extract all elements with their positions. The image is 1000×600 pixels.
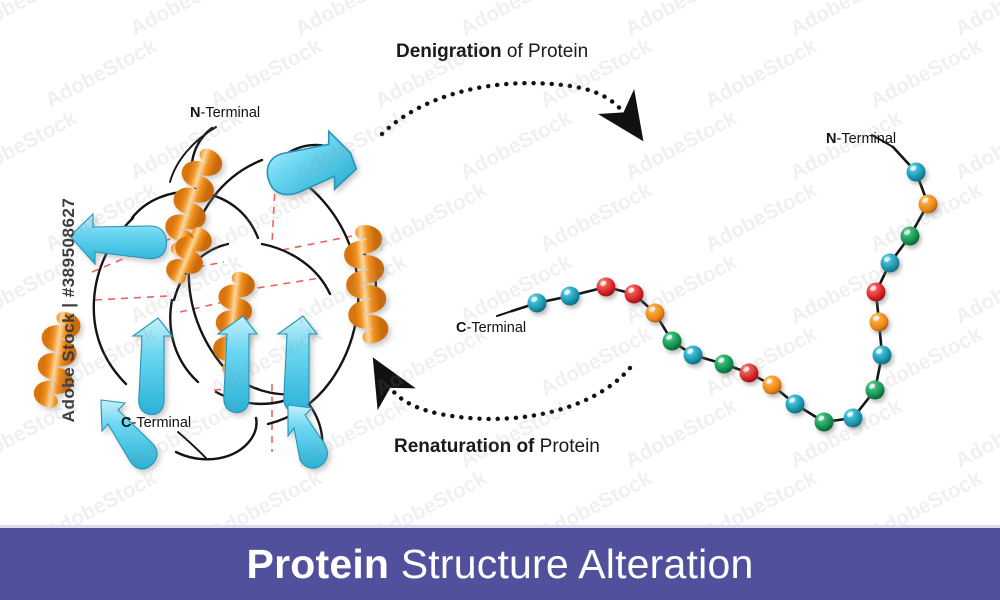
amino-acid-bead-teal: [881, 254, 900, 273]
terminal-word: -Terminal: [131, 415, 191, 431]
beta-sheet-arrow: [133, 318, 172, 414]
amino-acid-bead-orange: [919, 195, 938, 214]
terminal-word: -Terminal: [836, 131, 896, 147]
amino-acid-bead-red: [740, 364, 759, 383]
denaturation-label-bold: Denigration: [396, 41, 502, 62]
beta-sheet-arrow: [70, 214, 166, 264]
title-banner: Protein Structure Alteration: [0, 525, 1000, 600]
amino-acid-bead-green: [715, 355, 734, 374]
n-letter: N: [190, 105, 200, 121]
amino-acid-bead-teal: [684, 346, 703, 365]
alpha-helix: [349, 231, 382, 338]
amino-acid-bead-red: [597, 278, 616, 297]
folded-c-terminal-label: C-Terminal: [121, 416, 191, 431]
chain-backbone: [512, 147, 928, 422]
transition-arrow-group: [382, 83, 630, 419]
unfolded-c-terminal-leader: [497, 311, 512, 316]
hydrogen-bond: [282, 236, 352, 250]
alpha-helix: [39, 316, 74, 403]
alpha-helix-group: [39, 151, 382, 402]
banner-title: Protein Structure Alteration: [247, 544, 754, 585]
renaturation-label-rest: Protein: [534, 436, 599, 457]
banner-title-bold: Protein: [247, 541, 390, 587]
amino-acid-bead-red: [625, 285, 644, 304]
backbone-segment: [262, 244, 330, 294]
denaturation-arrow: [382, 83, 626, 134]
amino-acid-bead-teal: [528, 294, 547, 313]
diagram-canvas: Denigration of Protein Renaturation of P…: [0, 0, 1000, 600]
amino-acid-bead-orange: [646, 304, 665, 323]
amino-acid-bead-green: [866, 381, 885, 400]
denatured-polypeptide-chain: [497, 135, 938, 432]
n-letter: N: [826, 131, 836, 147]
folded-protein-structure: [39, 127, 382, 469]
terminal-word: -Terminal: [466, 320, 526, 336]
amino-acid-bead-teal: [844, 409, 863, 428]
amino-acid-bead-orange: [763, 376, 782, 395]
denaturation-label: Denigration of Protein: [396, 42, 588, 61]
amino-acid-bead-red: [867, 283, 886, 302]
amino-acid-bead-green: [663, 332, 682, 351]
amino-acid-bead-group: [528, 163, 938, 432]
c-letter: C: [121, 415, 131, 431]
beta-sheet-arrow: [278, 316, 317, 412]
beta-sheet-arrow: [218, 316, 257, 412]
renaturation-label-bold: Renaturation of: [394, 436, 534, 457]
amino-acid-bead-teal: [873, 346, 892, 365]
amino-acid-bead-teal: [561, 287, 580, 306]
terminal-word: -Terminal: [200, 105, 260, 121]
banner-title-rest: Structure Alteration: [389, 541, 753, 587]
protein-diagram-svg: [0, 0, 1000, 600]
denaturation-label-rest: of Protein: [502, 41, 589, 62]
amino-acid-bead-green: [901, 227, 920, 246]
unfolded-c-terminal-label: C-Terminal: [456, 321, 526, 336]
folded-n-terminal-label: N-Terminal: [190, 106, 260, 121]
amino-acid-bead-orange: [870, 313, 889, 332]
beta-sheet-group: [70, 131, 356, 469]
amino-acid-bead-teal: [907, 163, 926, 182]
renaturation-label: Renaturation of Protein: [394, 437, 600, 456]
beta-sheet-arrow: [267, 131, 356, 194]
unfolded-n-terminal-label: N-Terminal: [826, 132, 896, 147]
hydrogen-bond: [95, 296, 168, 300]
amino-acid-bead-green: [815, 413, 834, 432]
amino-acid-bead-teal: [786, 395, 805, 414]
c-letter: C: [456, 320, 466, 336]
renaturation-arrow: [388, 368, 630, 419]
